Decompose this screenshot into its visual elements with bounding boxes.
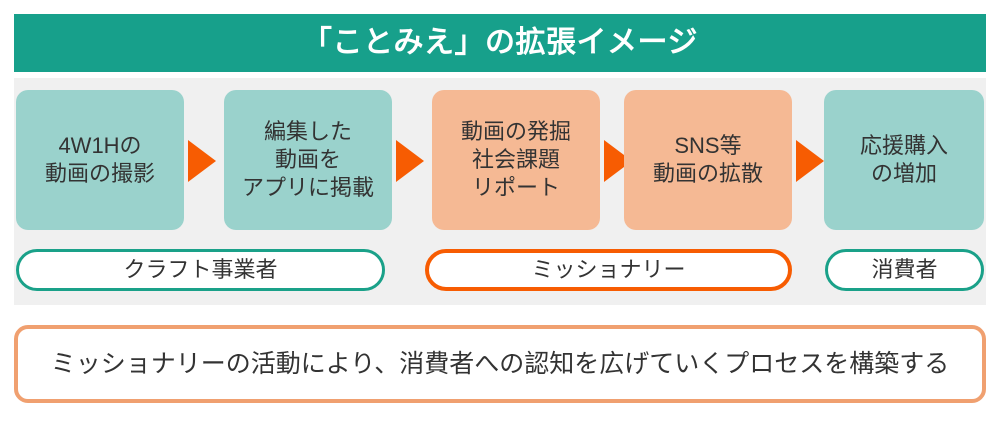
- flow-box-2-line-2: 動画を: [275, 146, 341, 174]
- flow-box-1-line-2: 動画の撮影: [45, 160, 155, 188]
- flow-box-5-line-2: の増加: [871, 160, 937, 188]
- flow-box-5: 応援購入 の増加: [824, 90, 984, 230]
- flow-box-1-line-1: 4W1Hの: [58, 132, 141, 160]
- flow-box-3-line-2: 社会課題: [472, 146, 560, 174]
- summary-banner: ミッショナリーの活動により、消費者への認知を広げていくプロセスを構築する: [14, 325, 986, 403]
- summary-text: ミッショナリーの活動により、消費者への認知を広げていくプロセスを構築する: [51, 352, 950, 377]
- role-pill-missionary: ミッショナリー: [425, 249, 792, 291]
- flow-box-4-line-2: 動画の拡散: [653, 160, 763, 188]
- triangle-right-icon: [796, 140, 824, 182]
- flow-box-3-line-1: 動画の発掘: [461, 118, 571, 146]
- triangle-right-icon: [188, 140, 216, 182]
- flow-box-5-line-1: 応援購入: [860, 132, 948, 160]
- flow-box-3: 動画の発掘 社会課題 リポート: [432, 90, 600, 230]
- flow-box-4-line-1: SNS等: [674, 132, 741, 160]
- role-pill-missionary-label: ミッショナリー: [531, 259, 685, 281]
- page-title: 「ことみえ」の拡張イメージ: [302, 28, 698, 58]
- header-banner: 「ことみえ」の拡張イメージ: [14, 14, 986, 72]
- diagram-canvas: 「ことみえ」の拡張イメージ 4W1Hの 動画の撮影 編集した 動画を アプリに掲…: [0, 0, 1000, 426]
- flow-box-2-line-3: アプリに掲載: [242, 174, 374, 202]
- flow-box-4: SNS等 動画の拡散: [624, 90, 792, 230]
- role-pill-consumer-label: 消費者: [871, 259, 937, 281]
- flow-box-1: 4W1Hの 動画の撮影: [16, 90, 184, 230]
- role-pill-craft-label: クラフト事業者: [123, 259, 277, 281]
- flow-box-2-line-1: 編集した: [264, 118, 352, 146]
- flow-stage: 4W1Hの 動画の撮影 編集した 動画を アプリに掲載 動画の発掘 社会課題 リ…: [14, 78, 986, 305]
- flow-box-2: 編集した 動画を アプリに掲載: [224, 90, 392, 230]
- triangle-right-icon: [396, 140, 424, 182]
- role-pill-craft: クラフト事業者: [16, 249, 385, 291]
- role-pill-consumer: 消費者: [825, 249, 984, 291]
- flow-box-3-line-3: リポート: [472, 174, 560, 202]
